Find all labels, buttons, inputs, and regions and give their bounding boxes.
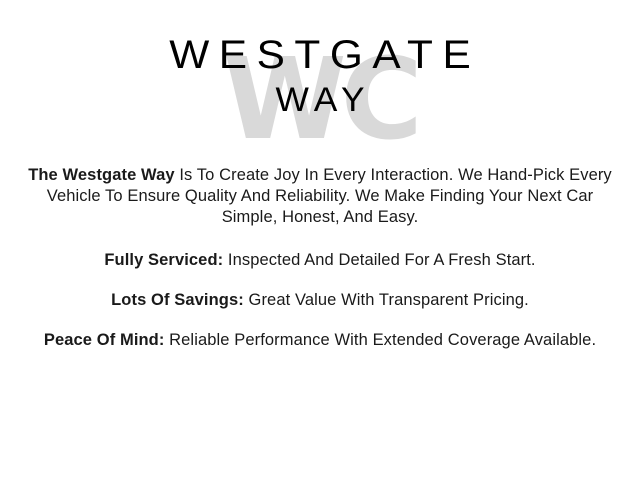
benefit-paragraph: Fully Serviced: Inspected And Detailed F… xyxy=(18,250,622,271)
wordmark-way: WAY xyxy=(0,80,640,120)
benefit-lead: Fully Serviced: xyxy=(104,251,223,269)
dealer-info-card: WC WESTGATE WAY The Westgate Way Is To C… xyxy=(0,0,640,480)
benefit-paragraph: Lots Of Savings: Great Value With Transp… xyxy=(18,290,622,311)
benefit-lead: Lots Of Savings: xyxy=(111,291,244,309)
benefit-body: Inspected And Detailed For A Fresh Start… xyxy=(223,251,535,269)
benefit-lead: Peace Of Mind: xyxy=(44,331,165,349)
intro-lead: The Westgate Way xyxy=(28,166,174,184)
benefit-paragraph: Peace Of Mind: Reliable Performance With… xyxy=(18,330,622,351)
intro-paragraph: The Westgate Way Is To Create Joy In Eve… xyxy=(18,165,622,228)
brand-wordmark: WESTGATE WAY xyxy=(0,34,640,120)
brand-logo-lockup: WC WESTGATE WAY xyxy=(0,0,640,165)
value-proposition-copy: The Westgate Way Is To Create Joy In Eve… xyxy=(0,165,640,351)
benefit-body: Reliable Performance With Extended Cover… xyxy=(164,331,596,349)
benefit-body: Great Value With Transparent Pricing. xyxy=(244,291,529,309)
wordmark-westgate: WESTGATE xyxy=(0,34,640,76)
